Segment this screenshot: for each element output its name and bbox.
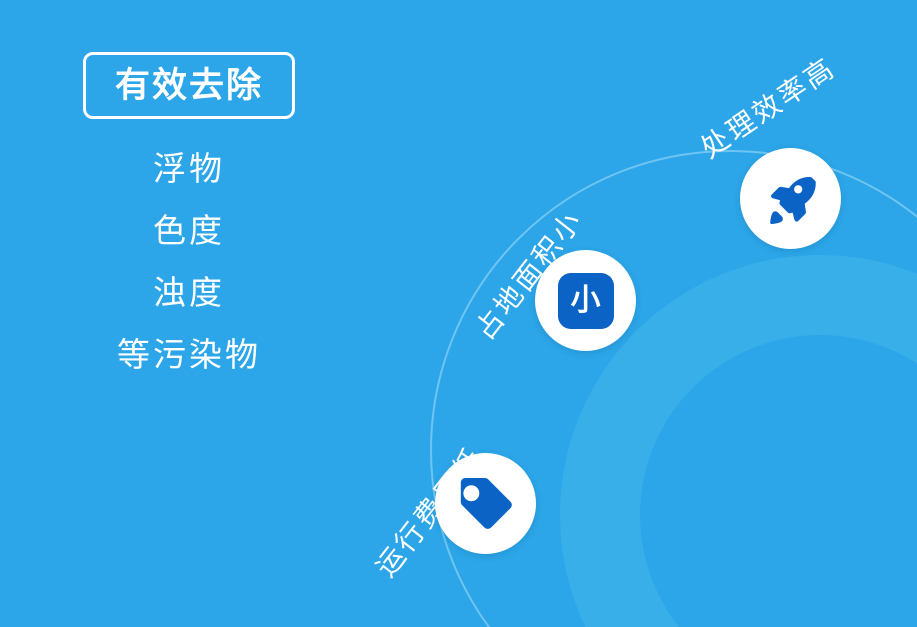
- rocket-icon: [763, 171, 819, 227]
- pollutant-list: 浮物 色度 浊度 等污染物: [83, 138, 295, 386]
- price-tag-icon: [457, 475, 515, 533]
- list-item: 色度: [83, 200, 295, 262]
- feature-node-efficiency[interactable]: [740, 148, 841, 249]
- feature-node-footprint[interactable]: 小: [535, 250, 636, 351]
- list-item: 浮物: [83, 138, 295, 200]
- feature-label-efficiency: 处理效率高: [692, 47, 843, 167]
- section-title: 有效去除: [115, 68, 263, 103]
- feature-node-cost[interactable]: [435, 453, 536, 554]
- small-badge-icon: 小: [558, 273, 614, 329]
- section-title-box: 有效去除: [83, 52, 295, 119]
- infographic-canvas: 有效去除 浮物 色度 浊度 等污染物 处理效率高 占地面积小 小 运行费用低: [0, 0, 917, 627]
- list-item: 等污染物: [83, 324, 295, 386]
- list-item: 浊度: [83, 262, 295, 324]
